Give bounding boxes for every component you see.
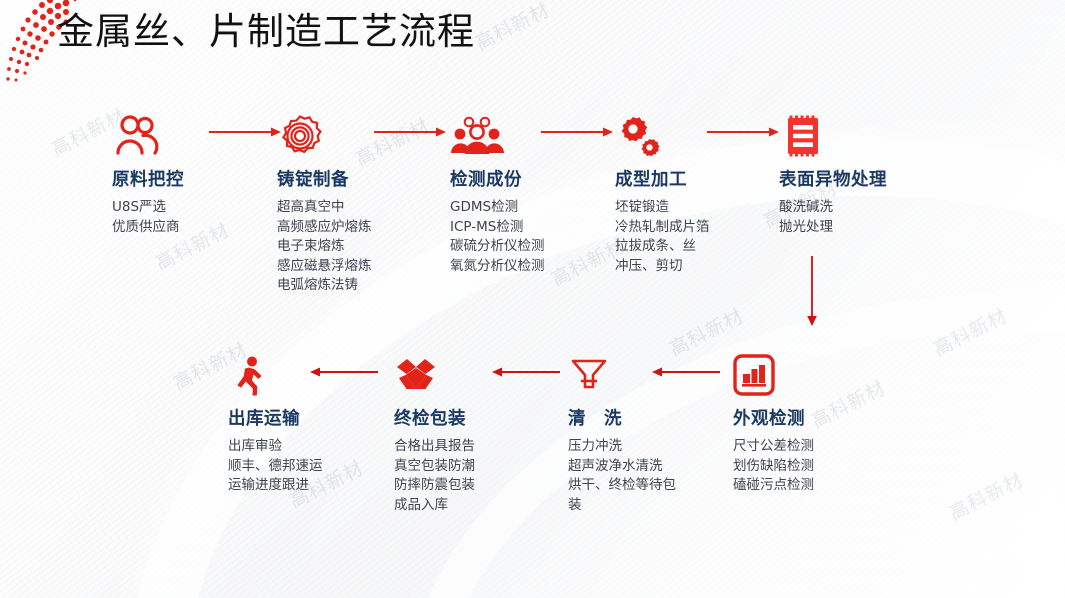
list-item: 运输进度跟进 [228,476,388,496]
step-item-list: 出库审验 顺丰、德邦速运 运输进度跟进 [228,437,388,496]
list-item: 合格出具报告 [394,437,554,457]
list-item: 顺丰、德邦速运 [228,457,388,477]
gear-target-icon [277,113,323,159]
step-item-list: U8S严选 优质供应商 [112,198,272,237]
arrow-right-icon [374,126,446,138]
list-item: 压力冲洗 [568,437,728,457]
step-title: 成型加工 [615,166,775,191]
step-item-list: GDMS检测 ICP-MS检测 碳硫分析仪检测 氧氮分析仪检测 [450,198,610,276]
step-title: 表面异物处理 [779,166,939,191]
list-item: 出库审验 [228,437,388,457]
step-title: 铸锭制备 [277,166,437,191]
step-title: 清 洗 [568,405,728,430]
list-item: 高频感应炉熔炼 [277,218,437,238]
list-item: 超高真空中 [277,198,437,218]
step-cleaning[interactable]: 清 洗 压力冲洗 超声波净水清洗 烘干、终检等待包装 [568,352,728,515]
list-item: U8S严选 [112,198,272,218]
step-surface-treatment[interactable]: 表面异物处理 酸洗碱洗 抛光处理 [779,113,939,237]
step-title: 出库运输 [228,405,388,430]
factory-badge-icon [733,352,775,398]
step-item-list: 压力冲洗 超声波净水清洗 烘干、终检等待包装 [568,437,728,515]
list-item: 抛光处理 [779,218,939,238]
step-outbound-transport[interactable]: 出库运输 出库审验 顺丰、德邦速运 运输进度跟进 [228,352,388,496]
slide-canvas: 高科新材 高科新材 高科新材 高科新材 高科新材 高科新材 高科新材 高科新材 … [0,0,1065,598]
step-title: 检测成份 [450,166,610,191]
step-appearance-inspection[interactable]: 外观检测 尺寸公差检测 划伤缺陷检测 磕碰污点检测 [733,352,893,496]
document-list-icon [779,113,825,159]
list-item: 冲压、剪切 [615,257,775,277]
list-item: 划伤缺陷检测 [733,457,893,477]
step-title: 终检包装 [394,405,554,430]
step-item-list: 合格出具报告 真空包装防潮 防摔防震包装 成品入库 [394,437,554,515]
step-ingot-preparation[interactable]: 铸锭制备 超高真空中 高频感应炉熔炼 电子束熔炼 感应磁悬浮熔炼 电弧熔炼法铸 [277,113,437,296]
step-title: 原料把控 [112,166,272,191]
list-item: GDMS检测 [450,198,610,218]
arrow-right-icon [541,126,613,138]
list-item: 碳硫分析仪检测 [450,237,610,257]
users-icon [112,113,164,159]
list-item: ICP-MS检测 [450,218,610,238]
arrow-right-icon [209,126,281,138]
list-item: 感应磁悬浮熔炼 [277,257,437,277]
step-item-list: 超高真空中 高频感应炉熔炼 电子束熔炼 感应磁悬浮熔炼 电弧熔炼法铸 [277,198,437,296]
people-group-icon [450,113,504,159]
list-item: 优质供应商 [112,218,272,238]
step-item-list: 酸洗碱洗 抛光处理 [779,198,939,237]
list-item: 氧氮分析仪检测 [450,257,610,277]
list-item: 磕碰污点检测 [733,476,893,496]
arrow-right-icon [707,126,779,138]
list-item: 超声波净水清洗 [568,457,728,477]
step-title: 外观检测 [733,405,893,430]
list-item: 冷热轧制成片箔 [615,218,775,238]
watermark: 高科新材 [928,301,1012,361]
list-item: 电弧熔炼法铸 [277,276,437,296]
open-box-icon [394,352,438,398]
list-item: 拉拔成条、丝 [615,237,775,257]
funnel-icon [568,352,610,398]
list-item: 坯锭锻造 [615,198,775,218]
step-item-list: 坯锭锻造 冷热轧制成片箔 拉拔成条、丝 冲压、剪切 [615,198,775,276]
watermark: 高科新材 [944,465,1028,525]
list-item: 酸洗碱洗 [779,198,939,218]
list-item: 真空包装防潮 [394,457,554,477]
watermark: 高科新材 [470,0,554,56]
page-title: 金属丝、片制造工艺流程 [57,8,475,56]
list-item: 电子束熔炼 [277,237,437,257]
list-item: 烘干、终检等待包装 [568,476,680,515]
gears-icon [615,113,665,159]
list-item: 防摔防震包装 [394,476,554,496]
step-final-inspection-packaging[interactable]: 终检包装 合格出具报告 真空包装防潮 防摔防震包装 成品入库 [394,352,554,515]
list-item: 尺寸公差检测 [733,437,893,457]
arrow-down-icon [805,256,819,328]
walking-person-icon [228,352,270,398]
list-item: 成品入库 [394,496,554,516]
step-item-list: 尺寸公差检测 划伤缺陷检测 磕碰污点检测 [733,437,893,496]
